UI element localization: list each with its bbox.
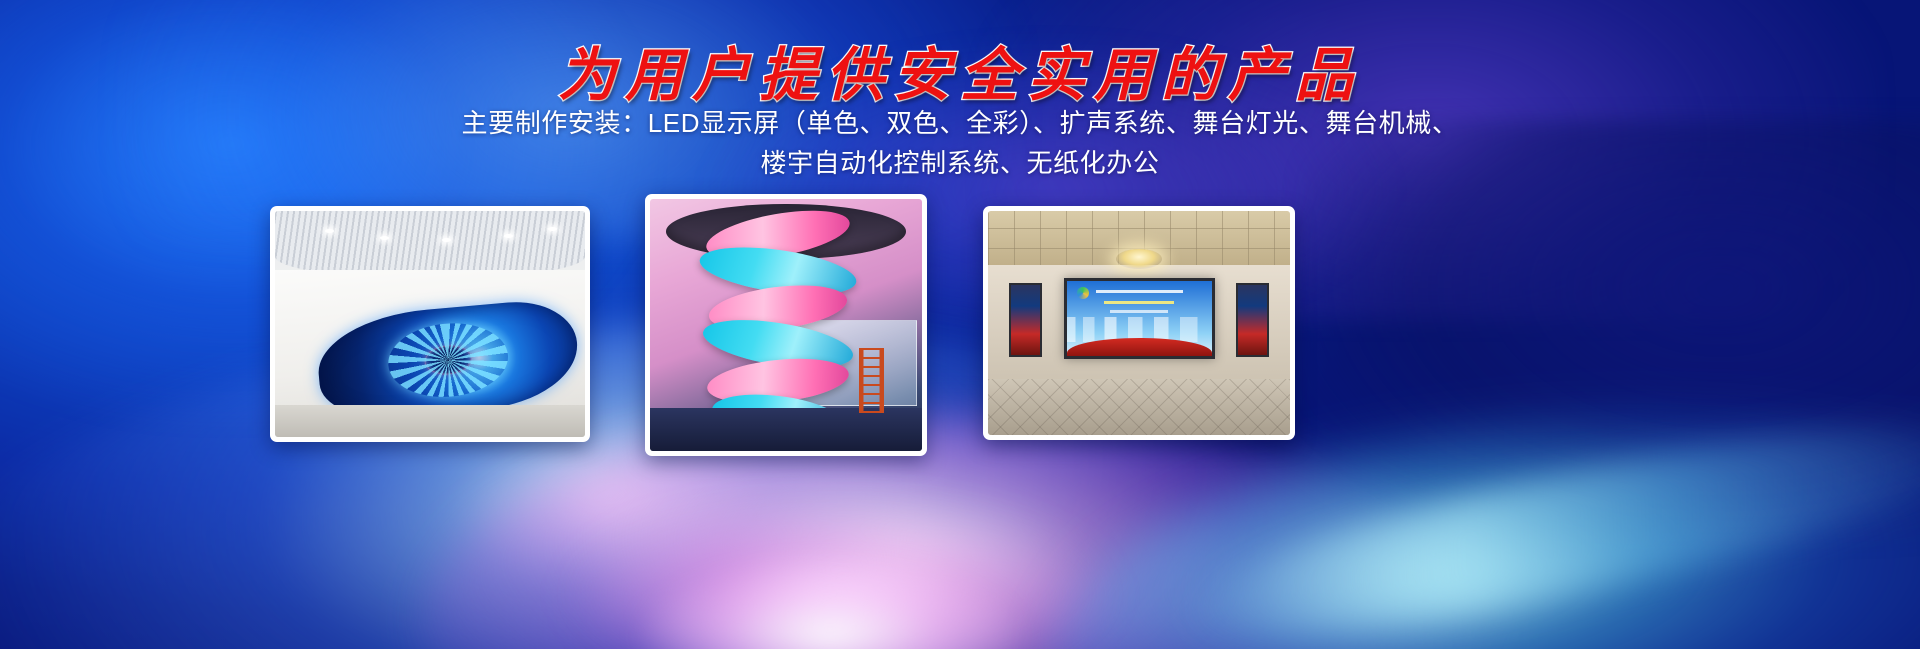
ceiling-strip — [275, 211, 585, 279]
gallery-photo-2[interactable] — [645, 194, 927, 456]
atrium-floor — [650, 408, 922, 451]
side-led-panel-right — [1236, 283, 1269, 357]
company-logo-icon — [1077, 287, 1089, 299]
gallery-photo-1[interactable] — [270, 206, 590, 442]
stage-led-screen — [1064, 278, 1215, 359]
promo-banner: 为用户提供安全实用的产品 主要制作安装：LED显示屏（单色、双色、全彩）、扩声系… — [0, 0, 1920, 649]
screen-subtitle-line — [1104, 301, 1174, 304]
hall-tiled-floor — [988, 379, 1290, 435]
banner-content: 为用户提供安全实用的产品 主要制作安装：LED显示屏（单色、双色、全彩）、扩声系… — [0, 0, 1920, 649]
chandelier — [1116, 249, 1162, 269]
eye-shaped-led-display-image — [275, 211, 585, 437]
eye-led-core — [424, 344, 473, 377]
step-ladder — [859, 348, 883, 414]
spiral-led-display-image — [650, 199, 922, 451]
photo-gallery — [0, 0, 1920, 649]
hall-floor — [275, 405, 585, 437]
ceiling-spotlight — [548, 227, 557, 231]
spiral-led-helix — [699, 214, 857, 436]
conference-hall-led-screen-image — [988, 211, 1290, 435]
ceiling-spotlight — [504, 234, 513, 238]
ceiling-spotlight — [325, 229, 334, 233]
screen-caption-line — [1110, 310, 1168, 313]
screen-title-line — [1096, 290, 1183, 293]
side-led-panel-left — [1009, 283, 1042, 357]
gallery-photo-3[interactable] — [983, 206, 1295, 440]
